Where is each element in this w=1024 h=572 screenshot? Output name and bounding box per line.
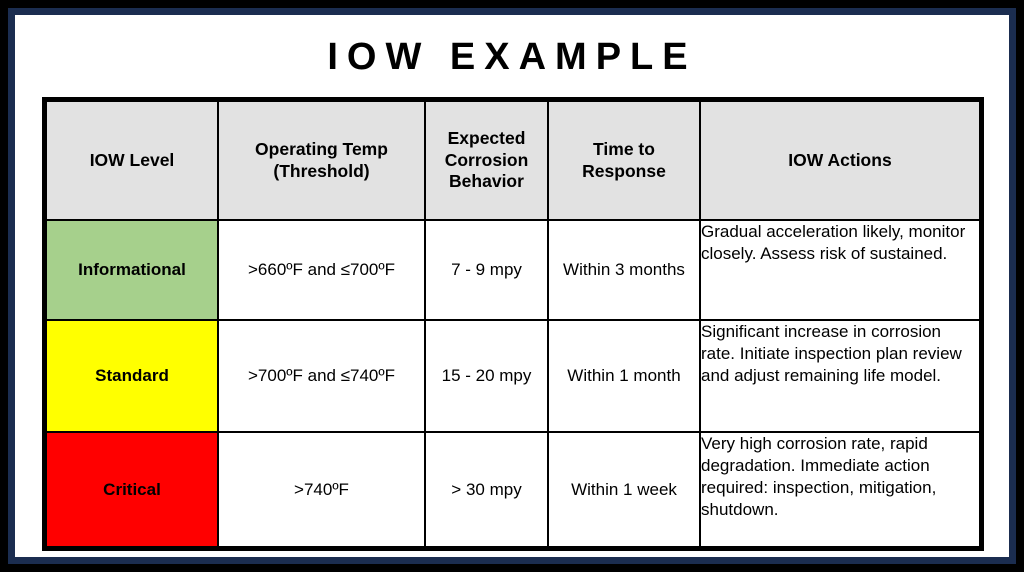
iow-table-container: IOW Level Operating Temp (Threshold) Exp… (42, 97, 984, 551)
table-row: Critical >740ºF > 30 mpy Within 1 week V… (46, 432, 980, 547)
time-to-response-value: Within 1 month (548, 320, 700, 432)
header-line: Expected (448, 128, 526, 148)
header-line: Response (582, 161, 666, 181)
page-title: IOW EXAMPLE (15, 36, 1009, 79)
iow-level-badge: Critical (46, 432, 218, 547)
header-line: Corrosion (445, 150, 529, 170)
header-row: IOW Level Operating Temp (Threshold) Exp… (46, 101, 980, 220)
header-line: Time to (593, 139, 655, 159)
column-header-iow-actions: IOW Actions (700, 101, 980, 220)
slide-frame: IOW EXAMPLE IOW Level (8, 8, 1016, 564)
iow-actions-value: Very high corrosion rate, rapid degradat… (700, 432, 980, 547)
column-header-operating-temp: Operating Temp (Threshold) (218, 101, 425, 220)
iow-actions-value: Gradual acceleration likely, monitor clo… (700, 220, 980, 320)
corrosion-behavior-value: > 30 mpy (425, 432, 548, 547)
table-row: Standard >700ºF and ≤740ºF 15 - 20 mpy W… (46, 320, 980, 432)
header-line: (Threshold) (273, 161, 369, 181)
slide-canvas: IOW EXAMPLE IOW Level (0, 0, 1024, 572)
table-row: Informational >660ºF and ≤700ºF 7 - 9 mp… (46, 220, 980, 320)
iow-level-badge: Informational (46, 220, 218, 320)
time-to-response-value: Within 3 months (548, 220, 700, 320)
operating-temp-value: >660ºF and ≤700ºF (218, 220, 425, 320)
header-line: IOW Actions (788, 150, 891, 170)
corrosion-behavior-value: 7 - 9 mpy (425, 220, 548, 320)
column-header-time-to-response: Time to Response (548, 101, 700, 220)
operating-temp-value: >740ºF (218, 432, 425, 547)
slide-surface: IOW EXAMPLE IOW Level (15, 15, 1009, 557)
operating-temp-value: >700ºF and ≤740ºF (218, 320, 425, 432)
column-header-iow-level: IOW Level (46, 101, 218, 220)
column-header-expected-corrosion-behavior: Expected Corrosion Behavior (425, 101, 548, 220)
header-line: IOW Level (90, 150, 175, 170)
header-line: Operating Temp (255, 139, 388, 159)
iow-actions-value: Significant increase in corrosion rate. … (700, 320, 980, 432)
table-header: IOW Level Operating Temp (Threshold) Exp… (46, 101, 980, 220)
table-body: Informational >660ºF and ≤700ºF 7 - 9 mp… (46, 220, 980, 547)
header-line: Behavior (449, 171, 524, 191)
iow-table: IOW Level Operating Temp (Threshold) Exp… (45, 100, 981, 548)
iow-level-badge: Standard (46, 320, 218, 432)
time-to-response-value: Within 1 week (548, 432, 700, 547)
corrosion-behavior-value: 15 - 20 mpy (425, 320, 548, 432)
